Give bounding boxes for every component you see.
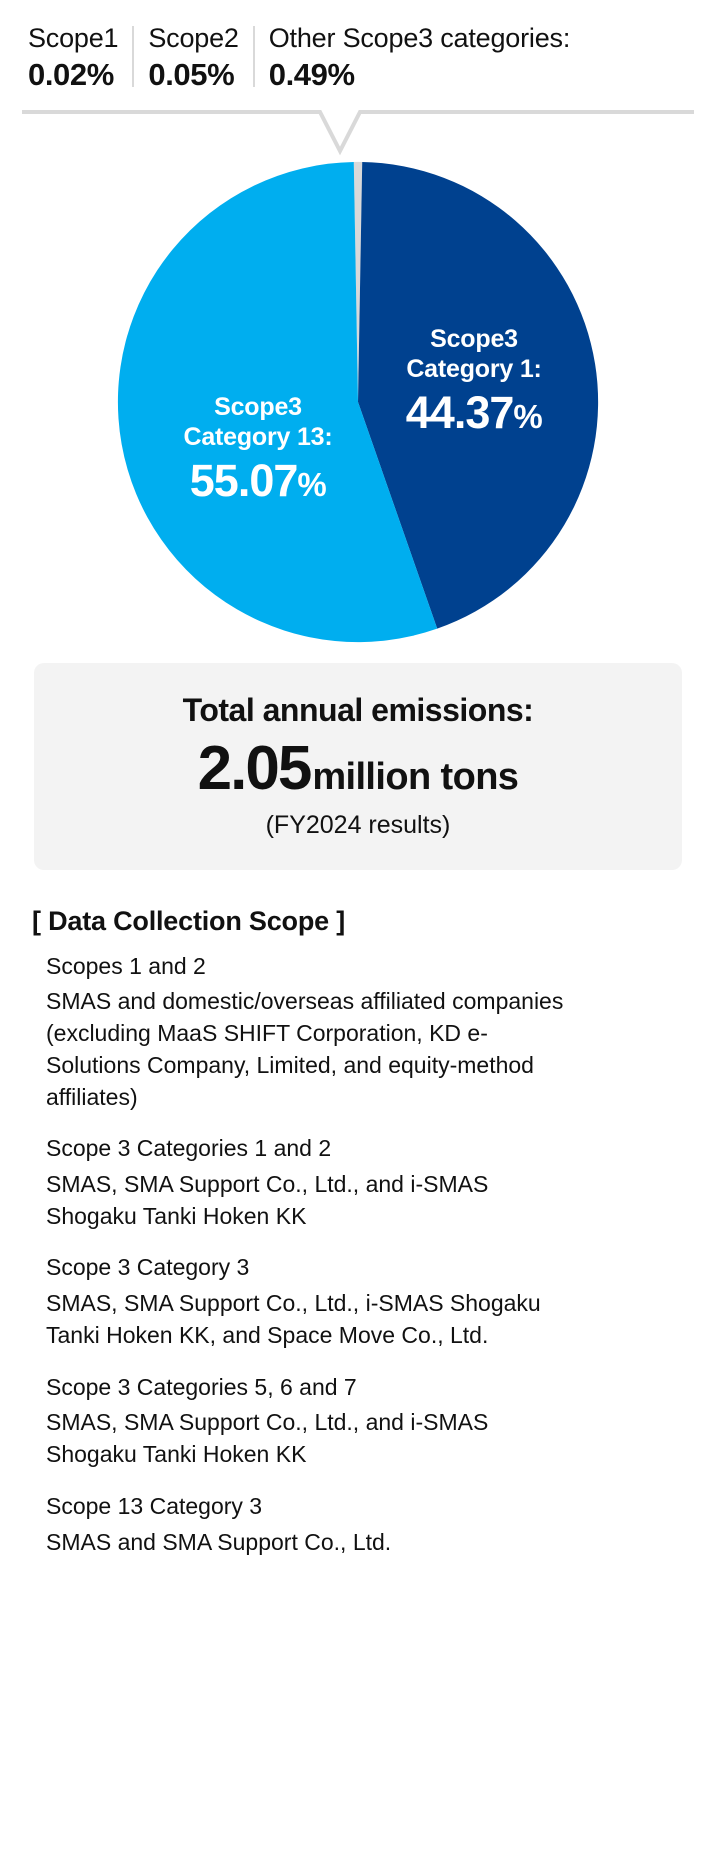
scope-item-label: Scope 3 Categories 1 and 2: [46, 1133, 684, 1165]
data-collection-scope-heading: [ Data Collection Scope ]: [32, 906, 684, 937]
scope-item-value: SMAS and SMA Support Co., Ltd.: [46, 1527, 566, 1559]
scope-item-label: Scopes 1 and 2: [46, 951, 684, 983]
scope-item-value: SMAS, SMA Support Co., Ltd., and i-SMAS …: [46, 1169, 566, 1232]
scope-item-value: SMAS, SMA Support Co., Ltd., and i-SMAS …: [46, 1407, 566, 1470]
stat-label-other-scope3: Other Scope3 categories:: [269, 22, 570, 55]
stat-cell-scope1: Scope1 0.02%: [22, 22, 132, 93]
scope-item-label: Scope 13 Category 3: [46, 1491, 684, 1523]
stat-cell-scope2: Scope2 0.05%: [134, 22, 252, 93]
total-emissions-box: Total annual emissions: 2.05million tons…: [34, 663, 682, 869]
stat-value-scope1: 0.02%: [28, 56, 118, 93]
stat-value-scope2: 0.05%: [148, 56, 238, 93]
data-collection-scope-section: [ Data Collection Scope ] Scopes 1 and 2…: [32, 906, 684, 1559]
scope-item: Scope 3 Category 3 SMAS, SMA Support Co.…: [46, 1252, 684, 1351]
bracket-pointer: [24, 109, 692, 159]
scope-item-label: Scope 3 Category 3: [46, 1252, 684, 1284]
stat-label-scope2: Scope2: [148, 22, 238, 55]
total-emissions-title: Total annual emissions:: [54, 691, 662, 729]
scope-item-value: SMAS, SMA Support Co., Ltd., i-SMAS Shog…: [46, 1288, 566, 1351]
emissions-pie-chart: Scope3 Category 1: 44.37% Scope3 Categor…: [113, 157, 603, 647]
stat-cell-other-scope3: Other Scope3 categories: 0.49%: [255, 22, 584, 93]
scope-item-value: SMAS and domestic/overseas affiliated co…: [46, 986, 566, 1113]
stat-value-other-scope3: 0.49%: [269, 56, 570, 93]
total-emissions-unit: million tons: [312, 756, 518, 798]
scope-item-label: Scope 3 Categories 5, 6 and 7: [46, 1372, 684, 1404]
total-emissions-amount: 2.05million tons: [54, 736, 662, 801]
total-emissions-note: (FY2024 results): [54, 811, 662, 840]
scope-item: Scope 3 Categories 1 and 2 SMAS, SMA Sup…: [46, 1133, 684, 1232]
scope-item: Scope 13 Category 3 SMAS and SMA Support…: [46, 1491, 684, 1558]
scope-item: Scopes 1 and 2 SMAS and domestic/oversea…: [46, 951, 684, 1114]
scope-stats-row: Scope1 0.02% Scope2 0.05% Other Scope3 c…: [0, 0, 716, 93]
bracket-pointer-path: [24, 112, 692, 151]
scope-item: Scope 3 Categories 5, 6 and 7 SMAS, SMA …: [46, 1372, 684, 1471]
stat-label-scope1: Scope1: [28, 22, 118, 55]
total-emissions-number: 2.05: [198, 734, 311, 803]
